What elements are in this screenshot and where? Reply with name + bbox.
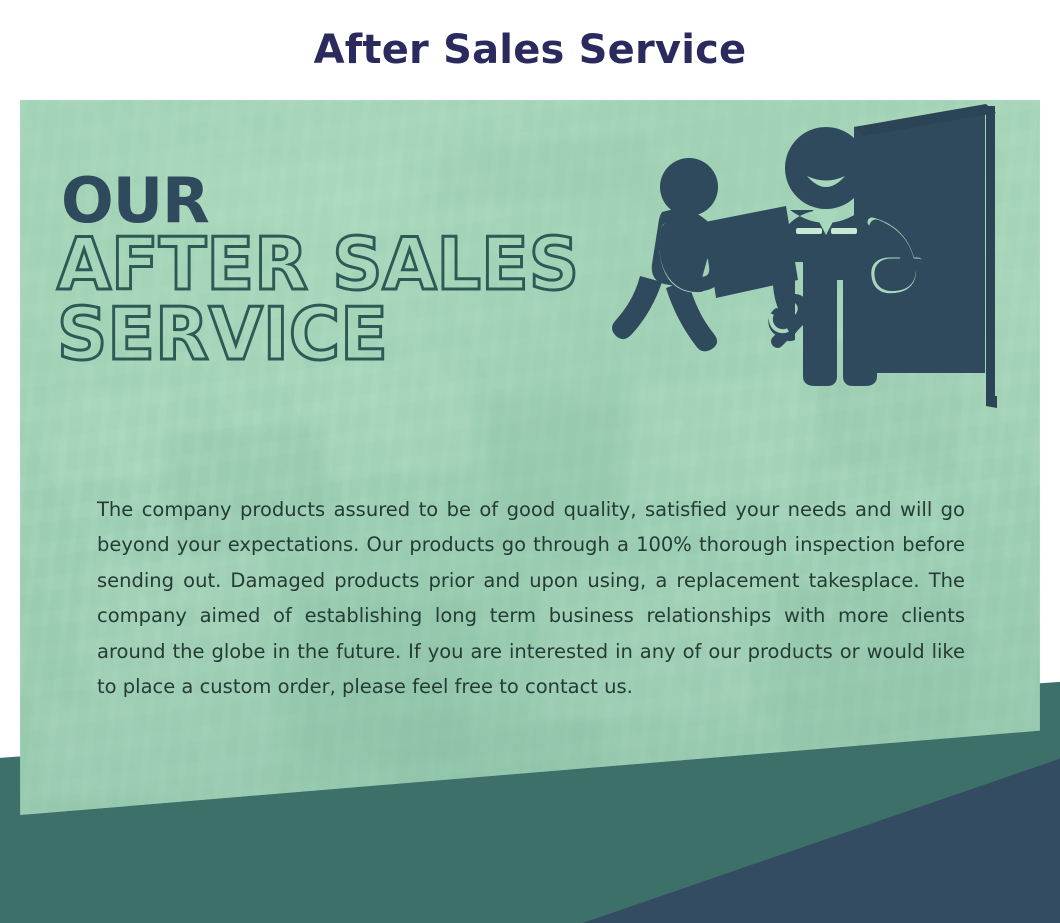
content-card: OUR AFTER SALES SERVICE The company prod… [20,100,1040,815]
slide-canvas: After Sales Service [0,0,1060,923]
delivery-person-figure [612,158,718,351]
body-paragraph: The company products assured to be of go… [97,492,965,705]
illustration-group [600,100,1040,440]
page-title: After Sales Service [0,27,1060,73]
